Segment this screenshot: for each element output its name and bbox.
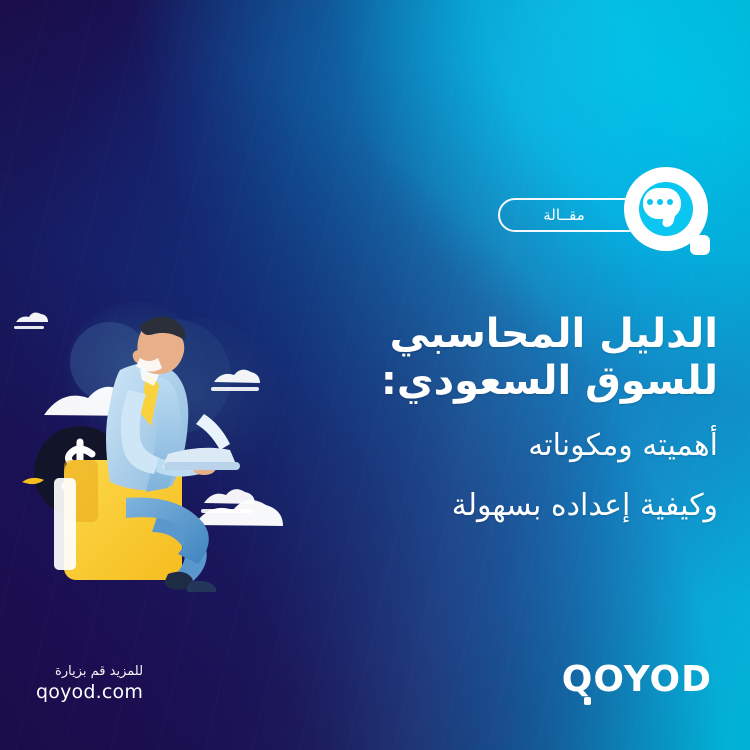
headline-line-2: للسوق السعودي:: [298, 359, 718, 404]
footer-cta: للمزيد قم بزيارة qoyod.com: [36, 663, 143, 706]
footer-cta-label: للمزيد قم بزيارة: [36, 663, 143, 681]
headline-line-1: الدليل المحاسبي: [298, 312, 718, 357]
wordmark-q: Q: [562, 659, 594, 700]
qoyod-speech-bubble-icon: [620, 165, 716, 265]
subheadline-line-1: أهميته ومكوناته: [298, 428, 718, 464]
shoe-back: [186, 581, 216, 592]
article-badge-row: مقــالة: [498, 163, 716, 267]
footer-url[interactable]: qoyod.com: [36, 680, 143, 706]
box-paper: [54, 478, 76, 570]
logo-square-dot: [690, 235, 710, 255]
social-post-canvas: مقــالة الدليل المحاسبي للسوق السعودي: أ…: [0, 0, 750, 750]
ellipsis-icon: [647, 199, 673, 205]
subheadline-line-2: وكيفية إعداده بسهولة: [298, 488, 718, 524]
hero-illustration: [8, 282, 308, 592]
qoyod-wordmark: QOYOD: [562, 659, 712, 700]
wordmark-rest: OYOD: [593, 659, 712, 700]
headline-block: الدليل المحاسبي للسوق السعودي: أهميته وم…: [298, 312, 718, 524]
